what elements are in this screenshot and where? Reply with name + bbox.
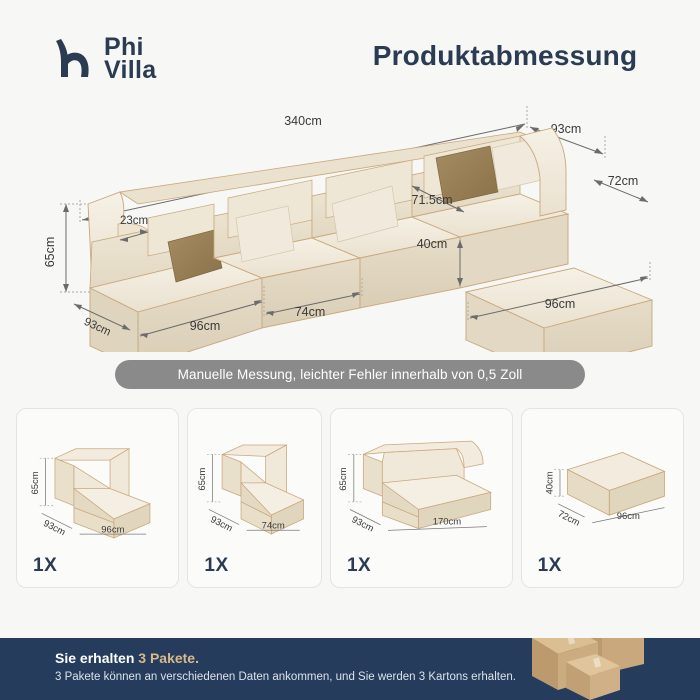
dim-label-armrest-width: 23cm <box>120 215 148 227</box>
brand-line-2: Villa <box>104 59 156 82</box>
product-dimension-diagram: 340cm 93cm 72cm <box>0 92 700 352</box>
dim-backrest-height <box>60 204 90 292</box>
brand-name: Phi Villa <box>104 36 156 82</box>
footer-title-accent: 3 Pakete. <box>138 650 199 666</box>
card3-dim-width: 170cm <box>433 517 462 528</box>
dim-label-overall-width: 340cm <box>284 114 322 128</box>
corner-module-card[interactable]: 65cm 93cm 96cm 1X <box>16 408 179 588</box>
card4-dim-width: 96cm <box>616 511 639 522</box>
phi-villa-logo-icon <box>55 36 95 82</box>
card1-quantity: 1X <box>33 555 57 577</box>
card2-dim-depth: 93cm <box>209 514 235 534</box>
corner-module-icon: 65cm 93cm 96cm <box>17 413 178 549</box>
card3-quantity: 1X <box>347 555 371 577</box>
card4-dim-depth: 72cm <box>555 508 581 528</box>
ottoman-card[interactable]: 40cm 72cm 96cm 1X <box>521 408 684 588</box>
dim-label-middle-width: 74cm <box>295 305 326 319</box>
dim-label-ottoman-depth: 72cm <box>608 174 639 188</box>
dim-label-corner-width: 96cm <box>190 319 221 333</box>
card2-dim-height: 65cm <box>197 467 208 490</box>
cardboard-boxes-icon <box>524 638 674 700</box>
page-title: Produktabmessung <box>355 40 655 72</box>
footer-title-bold: Sie erhalten <box>55 650 134 666</box>
long-module-icon: 65cm 93cm 170cm <box>331 413 512 549</box>
card1-dim-depth: 93cm <box>41 518 67 538</box>
card3-dim-height: 65cm <box>338 467 349 490</box>
component-cards: 65cm 93cm 96cm 1X 65cm 93cm 74cm <box>16 408 684 588</box>
brand-logo: Phi Villa <box>55 36 156 82</box>
long-module-card[interactable]: 65cm 93cm 170cm 1X <box>330 408 513 588</box>
card4-dim-height: 40cm <box>544 471 555 494</box>
card1-dim-width: 96cm <box>101 524 124 535</box>
card4-quantity: 1X <box>538 555 562 577</box>
page-header: Phi Villa Produktabmessung <box>0 0 700 100</box>
ottoman-icon: 40cm 72cm 96cm <box>522 413 683 549</box>
card1-dim-height: 65cm <box>30 471 41 494</box>
dim-label-backrest-height: 65cm <box>43 237 57 268</box>
dim-label-back-height-right: 71.5cm <box>412 193 453 207</box>
dim-label-ottoman-width: 96cm <box>545 297 576 311</box>
packages-footer: Sie erhalten 3 Pakete. 3 Pakete können a… <box>0 638 700 700</box>
measurement-note-badge: Manuelle Messung, leichter Fehler innerh… <box>115 360 585 389</box>
card2-dim-width: 74cm <box>262 520 285 531</box>
dim-label-seat-height: 40cm <box>417 237 448 251</box>
footer-subtitle: 3 Pakete können an verschiedenen Daten a… <box>55 671 516 683</box>
middle-module-icon: 65cm 93cm 74cm <box>188 413 321 549</box>
card3-dim-depth: 93cm <box>350 514 376 534</box>
middle-module-card[interactable]: 65cm 93cm 74cm 1X <box>187 408 322 588</box>
footer-title: Sie erhalten 3 Pakete. <box>55 650 199 666</box>
card2-quantity: 1X <box>204 555 228 577</box>
